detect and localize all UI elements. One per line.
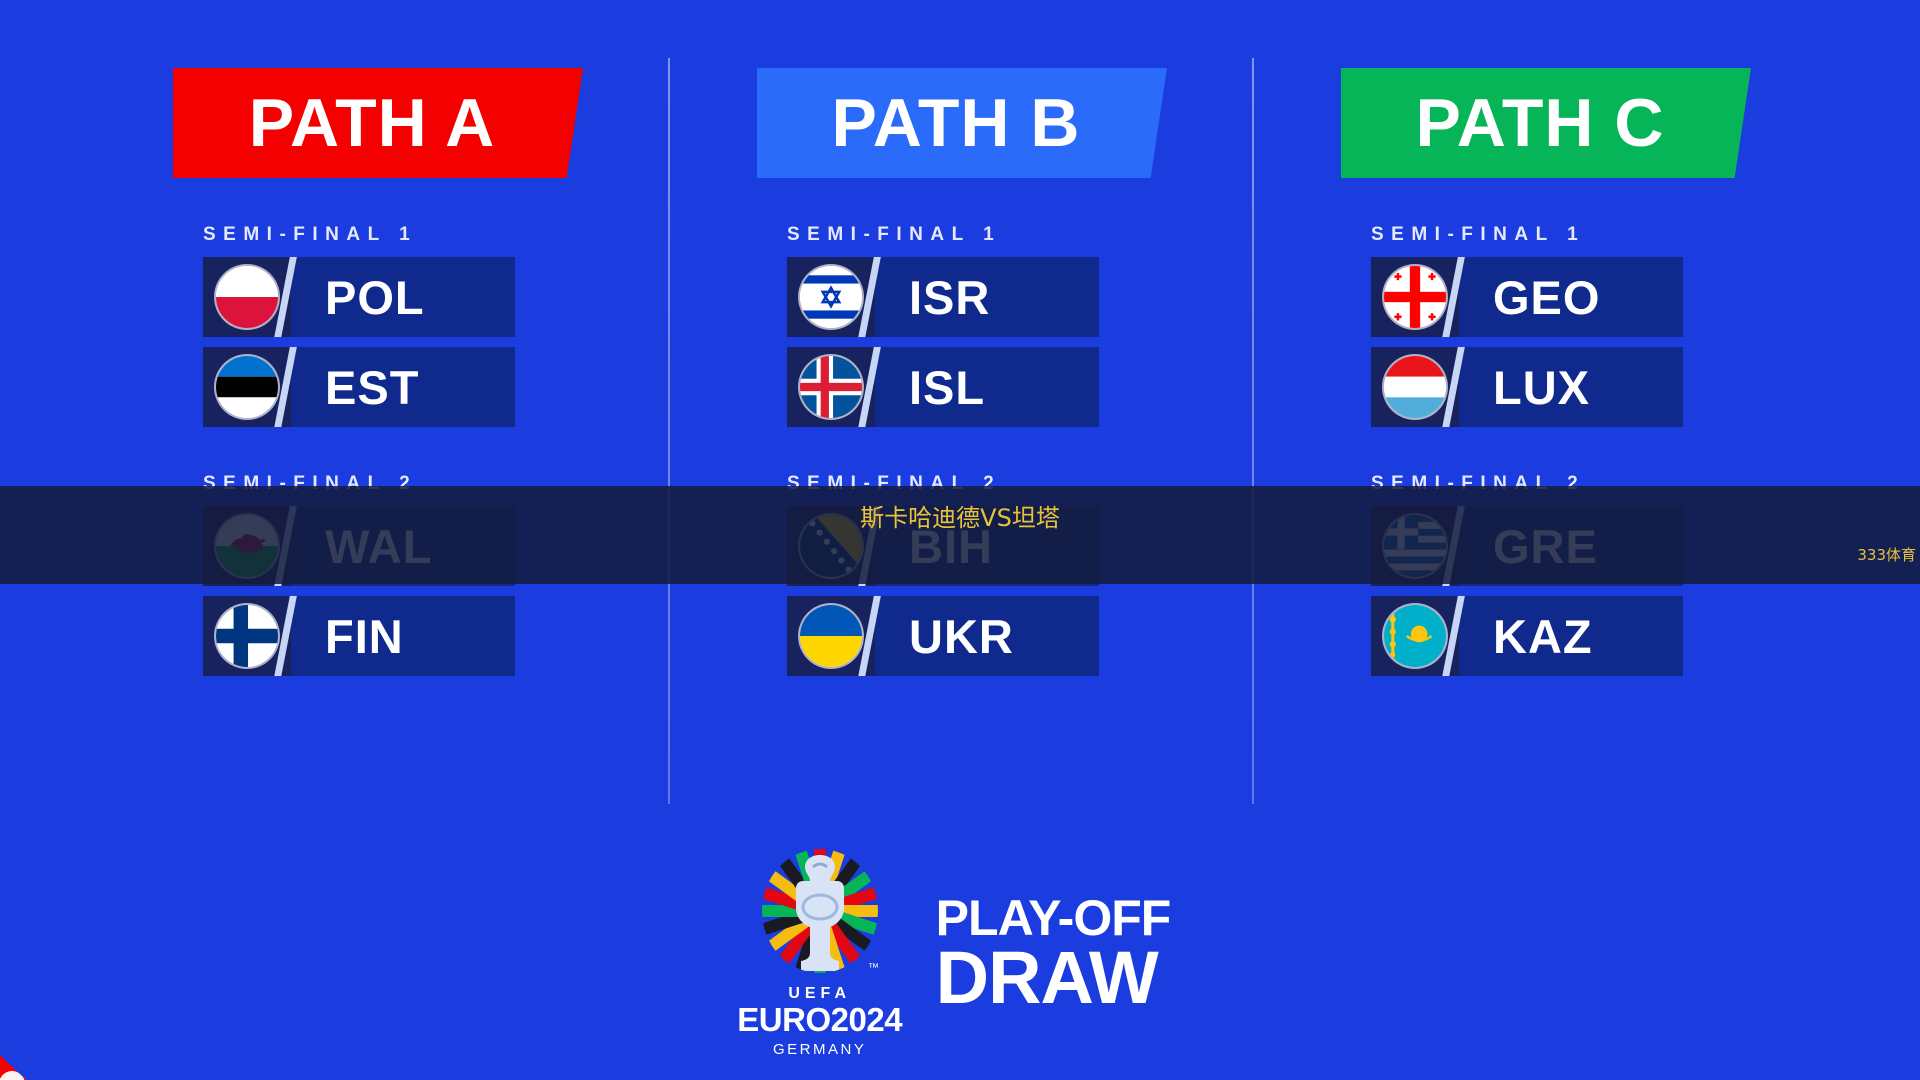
semifinal-label-c1: SEMI-FINAL 1 bbox=[1371, 224, 1775, 246]
path-banner-b: PATH B bbox=[757, 68, 1167, 178]
path-banner-label: PATH C bbox=[1415, 89, 1664, 157]
team-row[interactable]: GEO bbox=[1371, 257, 1683, 337]
event-title-line1: PLAY-OFF bbox=[936, 894, 1171, 943]
host-country-label: GERMANY bbox=[773, 1041, 866, 1058]
team-row[interactable]: EST bbox=[203, 347, 515, 427]
team-row[interactable]: FIN bbox=[203, 596, 515, 676]
israel-flag-icon bbox=[800, 266, 862, 328]
ukraine-flag-icon bbox=[800, 605, 862, 667]
iceland-flag-icon bbox=[800, 356, 862, 418]
path-column-c: PATH C SEMI-FINAL 1 bbox=[1313, 68, 1775, 820]
team-code: ISR bbox=[909, 274, 990, 321]
team-code: ISL bbox=[909, 364, 985, 411]
poland-flag-icon bbox=[216, 266, 278, 328]
path-column-b: PATH B SEMI-FINAL 1 ISR bbox=[729, 68, 1191, 820]
broadcast-overlay-bar: 斯卡哈迪德VS坦塔 333体育 bbox=[0, 486, 1920, 584]
georgia-flag-icon bbox=[1384, 266, 1446, 328]
team-row[interactable]: KAZ bbox=[1371, 596, 1683, 676]
semifinal-label-a1: SEMI-FINAL 1 bbox=[203, 224, 607, 246]
finland-flag-icon bbox=[216, 605, 278, 667]
path-banner-label: PATH B bbox=[831, 89, 1080, 157]
estonia-flag-icon bbox=[216, 356, 278, 418]
semifinal-label-b1: SEMI-FINAL 1 bbox=[787, 224, 1191, 246]
overlay-watermark: 333体育 bbox=[1857, 544, 1916, 565]
euro2024-logo: ™ UEFA EURO2024 GERMANY bbox=[750, 849, 890, 1058]
luxembourg-flag-icon bbox=[1384, 356, 1446, 418]
footer-branding: ™ UEFA EURO2024 GERMANY PLAY-OFF DRAW bbox=[0, 849, 1920, 1058]
team-row[interactable]: ISL bbox=[787, 347, 1099, 427]
path-banner-label: PATH A bbox=[249, 89, 496, 157]
team-row[interactable]: POL bbox=[203, 257, 515, 337]
team-row[interactable]: UKR bbox=[787, 596, 1099, 676]
euro2024-wordmark: EURO2024 bbox=[737, 1003, 902, 1038]
team-code: FIN bbox=[325, 613, 404, 660]
event-title: PLAY-OFF DRAW bbox=[936, 894, 1171, 1014]
draw-graphic: PATH A SEMI-FINAL 1 POL bbox=[0, 0, 1920, 1080]
kazakhstan-flag-icon bbox=[1384, 605, 1446, 667]
path-banner-a: PATH A bbox=[173, 68, 583, 178]
overlay-match-title: 斯卡哈迪德VS坦塔 bbox=[0, 498, 1920, 533]
path-column-a: PATH A SEMI-FINAL 1 POL bbox=[145, 68, 607, 820]
team-row[interactable]: LUX bbox=[1371, 347, 1683, 427]
team-code: EST bbox=[325, 364, 419, 411]
euro2024-trophy-icon: ™ bbox=[756, 849, 884, 981]
path-banner-c: PATH C bbox=[1341, 68, 1751, 178]
team-code: POL bbox=[325, 274, 425, 321]
team-code: UKR bbox=[909, 613, 1014, 660]
svg-text:™: ™ bbox=[868, 962, 879, 974]
event-title-line2: DRAW bbox=[936, 942, 1171, 1014]
team-row[interactable]: ISR bbox=[787, 257, 1099, 337]
paths-container: PATH A SEMI-FINAL 1 POL bbox=[0, 0, 1920, 820]
team-code: GEO bbox=[1493, 274, 1600, 321]
team-code: LUX bbox=[1493, 364, 1590, 411]
team-code: KAZ bbox=[1493, 613, 1593, 660]
